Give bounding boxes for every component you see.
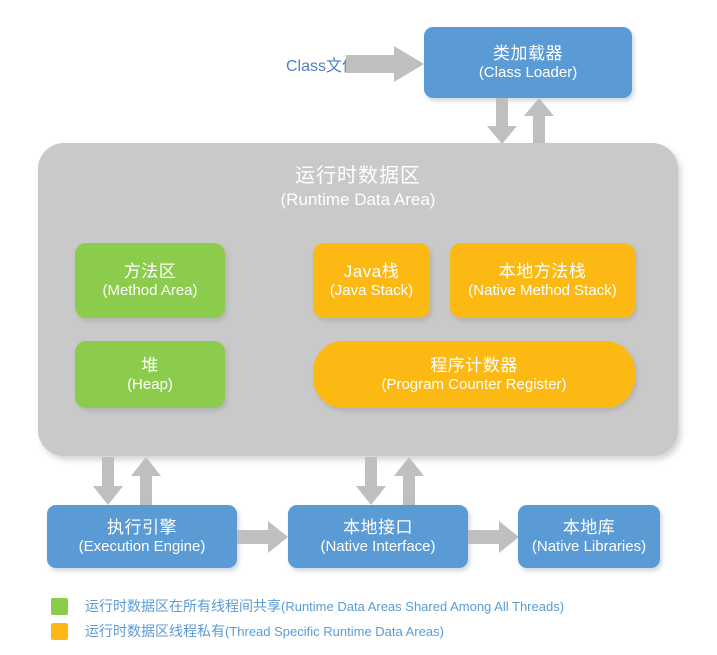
node-java-stack-en: (Java Stack) [330,282,413,301]
node-native-libraries[interactable]: 本地库 (Native Libraries) [518,505,660,568]
arrow-native-interface-to-native-libraries [468,521,519,553]
node-method-area-cn: 方法区 [124,261,177,282]
node-native-interface-cn: 本地接口 [343,517,413,538]
node-program-counter-register[interactable]: 程序计数器 (Program Counter Register) [313,341,635,408]
arrow-native-interface-to-runtime-up [394,457,424,505]
node-method-area-en: (Method Area) [102,282,197,301]
legend-label-shared: 运行时数据区在所有线程间共享(Runtime Data Areas Shared… [85,596,564,616]
node-class-loader[interactable]: 类加载器 (Class Loader) [424,27,632,98]
node-java-stack-cn: Java栈 [344,261,399,282]
legend-item-thread-specific: 运行时数据区线程私有(Thread Specific Runtime Data … [51,621,671,641]
node-native-method-stack-en: (Native Method Stack) [468,282,616,301]
node-native-interface[interactable]: 本地接口 (Native Interface) [288,505,468,568]
legend-label-thread-specific: 运行时数据区线程私有(Thread Specific Runtime Data … [85,621,444,641]
node-heap[interactable]: 堆 (Heap) [75,341,225,408]
node-class-loader-en: (Class Loader) [479,64,577,83]
arrow-classfile-to-classloader [346,46,424,82]
legend: 运行时数据区在所有线程间共享(Runtime Data Areas Shared… [51,596,671,646]
node-java-stack[interactable]: Java栈 (Java Stack) [313,243,430,318]
arrow-classloader-to-runtime-down [487,98,517,144]
node-native-libraries-en: (Native Libraries) [532,538,646,557]
arrow-execution-engine-to-runtime-up [131,457,161,505]
node-native-method-stack[interactable]: 本地方法栈 (Native Method Stack) [450,243,635,318]
node-program-counter-cn: 程序计数器 [430,355,518,376]
legend-swatch-orange [51,623,68,640]
node-class-loader-cn: 类加载器 [493,43,563,64]
node-execution-engine-cn: 执行引擎 [107,517,177,538]
node-execution-engine-en: (Execution Engine) [79,538,206,557]
node-program-counter-en: (Program Counter Register) [381,376,566,395]
node-heap-cn: 堆 [141,355,159,376]
legend-swatch-green [51,598,68,615]
legend-label-shared-en: (Runtime Data Areas Shared Among All Thr… [281,599,564,614]
legend-label-shared-cn: 运行时数据区在所有线程间共享 [85,598,281,614]
node-method-area[interactable]: 方法区 (Method Area) [75,243,225,318]
arrow-runtime-to-execution-engine-down [93,457,123,505]
jvm-architecture-diagram: Class文件 类加载器 (Class Loader) 运行时数据区 (Runt… [0,0,717,655]
runtime-title-cn: 运行时数据区 [38,163,678,189]
legend-item-shared: 运行时数据区在所有线程间共享(Runtime Data Areas Shared… [51,596,671,616]
node-native-interface-en: (Native Interface) [320,538,435,557]
arrow-runtime-to-native-interface-down [356,457,386,505]
node-execution-engine[interactable]: 执行引擎 (Execution Engine) [47,505,237,568]
arrow-runtime-to-classloader-up [524,98,554,144]
arrow-execution-engine-to-native-interface [237,521,288,553]
node-heap-en: (Heap) [127,376,173,395]
legend-label-thread-specific-cn: 运行时数据区线程私有 [85,623,225,639]
runtime-data-area-title: 运行时数据区 (Runtime Data Area) [38,163,678,211]
legend-label-thread-specific-en: (Thread Specific Runtime Data Areas) [225,624,444,639]
runtime-title-en: (Runtime Data Area) [38,189,678,211]
node-native-libraries-cn: 本地库 [563,517,616,538]
node-native-method-stack-cn: 本地方法栈 [499,261,587,282]
